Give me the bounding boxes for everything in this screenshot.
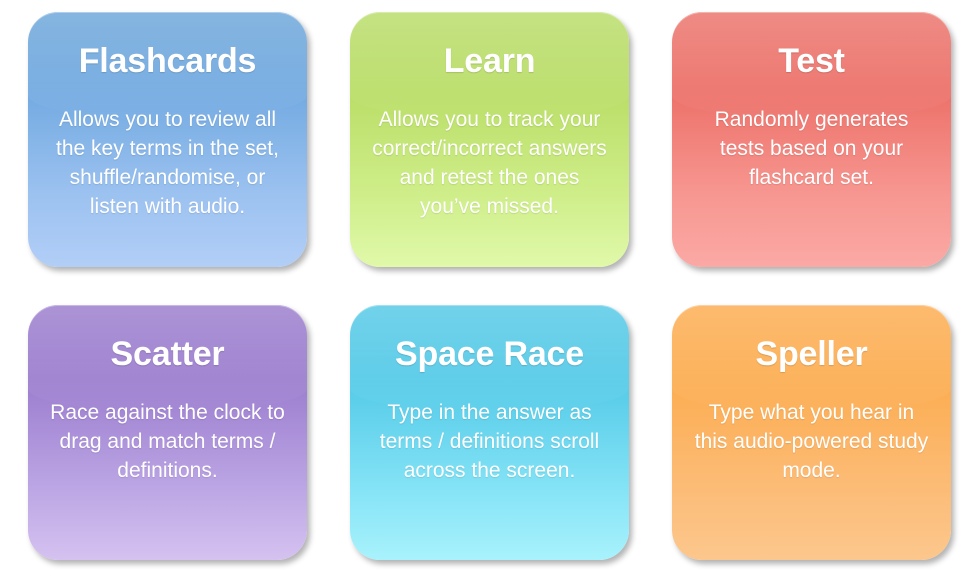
card-body-scatter: Race against the clock to drag and match…: [44, 399, 291, 486]
card-title-space-race: Space Race: [395, 335, 584, 373]
card-body-learn: Allows you to track your correct/incorre…: [366, 106, 613, 222]
card-title-learn: Learn: [444, 42, 536, 80]
card-learn[interactable]: Learn Allows you to track your correct/i…: [350, 12, 629, 267]
card-scatter[interactable]: Scatter Race against the clock to drag a…: [28, 305, 307, 560]
card-title-test: Test: [778, 42, 845, 80]
card-body-flashcards: Allows you to review all the key terms i…: [44, 106, 291, 222]
card-test[interactable]: Test Randomly generates tests based on y…: [672, 12, 951, 267]
card-title-speller: Speller: [756, 335, 868, 373]
card-flashcards[interactable]: Flashcards Allows you to review all the …: [28, 12, 307, 267]
card-body-speller: Type what you hear in this audio-powered…: [688, 399, 935, 486]
card-body-space-race: Type in the answer as terms / definition…: [366, 399, 613, 486]
card-speller[interactable]: Speller Type what you hear in this audio…: [672, 305, 951, 560]
card-title-scatter: Scatter: [111, 335, 225, 373]
card-body-test: Randomly generates tests based on your f…: [688, 106, 935, 193]
card-title-flashcards: Flashcards: [79, 42, 257, 80]
card-space-race[interactable]: Space Race Type in the answer as terms /…: [350, 305, 629, 560]
study-mode-card-grid: Flashcards Allows you to review all the …: [0, 0, 980, 582]
